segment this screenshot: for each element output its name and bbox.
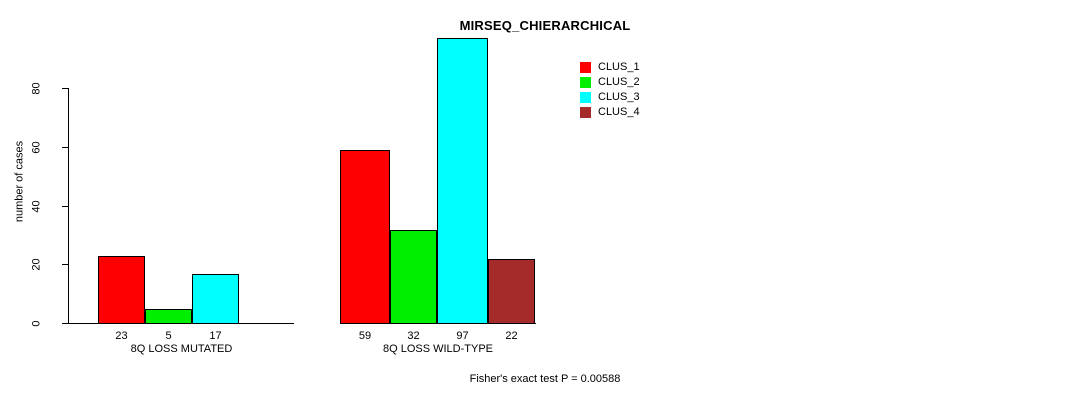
y-tick-label-80: 80 bbox=[32, 69, 43, 109]
legend-item-label: CLUS_4 bbox=[598, 107, 640, 118]
bar-clus-3-wildtype[interactable] bbox=[437, 38, 488, 324]
legend-item-clus-2[interactable]: CLUS_2 bbox=[580, 75, 640, 90]
group-label-mutated: 8Q LOSS MUTATED bbox=[69, 344, 294, 355]
y-tick-label-60: 60 bbox=[32, 128, 43, 168]
y-tick-mark bbox=[62, 206, 68, 207]
bar-value-label: 32 bbox=[390, 331, 437, 342]
legend-item-label: CLUS_2 bbox=[598, 77, 640, 88]
y-tick-mark bbox=[62, 88, 68, 89]
bar-value-label: 5 bbox=[145, 331, 192, 342]
bar-value-label: 23 bbox=[98, 331, 145, 342]
y-tick-mark bbox=[62, 323, 68, 324]
bar-value-label: 17 bbox=[192, 331, 239, 342]
y-tick-mark bbox=[62, 264, 68, 265]
legend-item-label: CLUS_1 bbox=[598, 62, 640, 73]
legend-swatch-icon bbox=[580, 107, 591, 118]
y-axis-line bbox=[68, 88, 69, 324]
bar-clus-1-wildtype[interactable] bbox=[340, 150, 390, 324]
bar-value-label: 97 bbox=[437, 331, 488, 342]
legend-swatch-icon bbox=[580, 77, 591, 88]
bar-value-label: 22 bbox=[488, 331, 535, 342]
bar-value-label: 59 bbox=[340, 331, 390, 342]
y-tick-label-0: 0 bbox=[32, 304, 43, 344]
y-tick-label-40: 40 bbox=[32, 187, 43, 227]
legend: CLUS_1 CLUS_2 CLUS_3 CLUS_4 bbox=[580, 60, 640, 120]
legend-item-label: CLUS_3 bbox=[598, 92, 640, 103]
legend-item-clus-1[interactable]: CLUS_1 bbox=[580, 60, 640, 75]
bar-clus-4-wildtype[interactable] bbox=[488, 259, 535, 324]
bar-clus-2-mutated[interactable] bbox=[145, 309, 192, 324]
footer-note: Fisher's exact test P = 0.00588 bbox=[0, 373, 1090, 385]
bar-clus-2-wildtype[interactable] bbox=[390, 230, 437, 324]
bar-clus-3-mutated[interactable] bbox=[192, 274, 239, 324]
bar-clus-1-mutated[interactable] bbox=[98, 256, 145, 324]
y-tick-label-20: 20 bbox=[32, 245, 43, 285]
legend-swatch-icon bbox=[580, 92, 591, 103]
legend-item-clus-3[interactable]: CLUS_3 bbox=[580, 90, 640, 105]
legend-item-clus-4[interactable]: CLUS_4 bbox=[580, 105, 640, 120]
group-label-wildtype: 8Q LOSS WILD-TYPE bbox=[340, 344, 536, 355]
plot-area: 0 20 40 60 80 number of cases 23 5 17 8Q… bbox=[0, 0, 1090, 400]
legend-swatch-icon bbox=[580, 62, 591, 73]
y-axis-title: number of cases bbox=[15, 112, 26, 252]
y-tick-mark bbox=[62, 147, 68, 148]
